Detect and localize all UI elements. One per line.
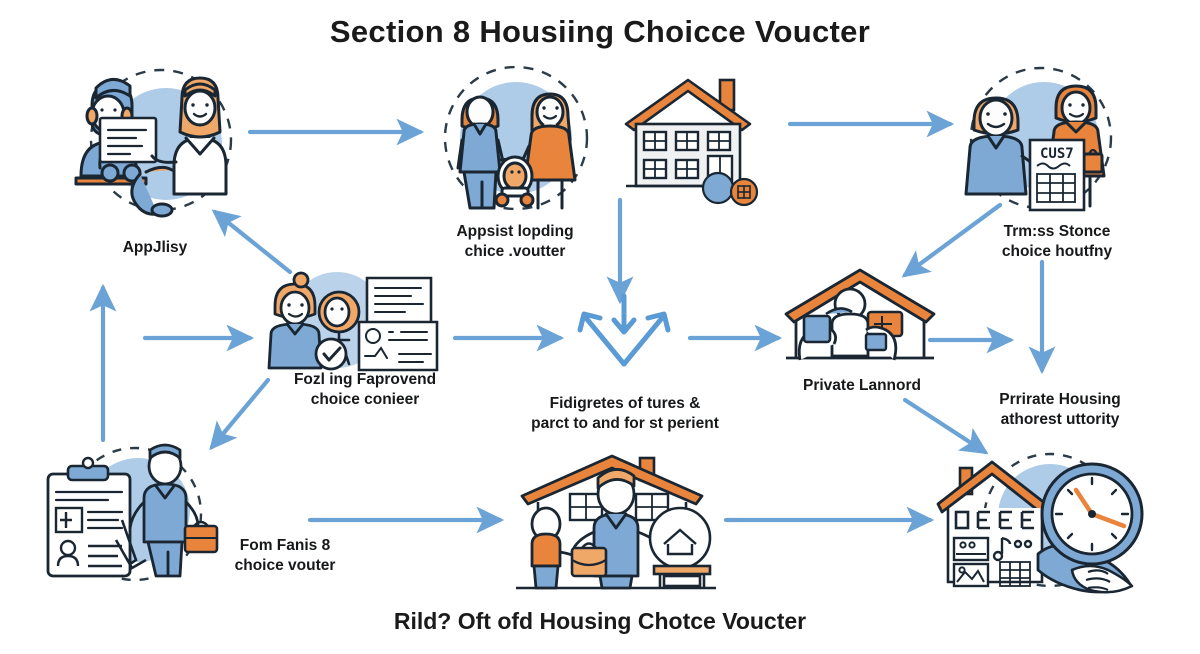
family-moving-in-icon [508,452,723,600]
infographic-canvas: Section 8 Housiing Choicce Voucter [0,0,1200,654]
agent-with-form-icon: CUS7 [944,62,1139,222]
node-label-form-fanis: Fom Fanis 8 choice vouter [190,536,380,576]
page-title: Section 8 Housiing Choicce Voucter [0,14,1200,50]
node-label-housing-authority: Prrirate Housing athorest uttority [945,390,1175,430]
house-building-icon [618,68,798,204]
svg-text:CUS7: CUS7 [1040,146,1074,162]
house-clock-hand-icon [938,450,1153,592]
node-label-finding-approved: Fozl ing Faprovend choice conieer [245,370,485,410]
family-with-stroller-icon [428,62,603,222]
node-label-payments: Fidigretes of tures & parct to and for s… [495,394,755,434]
node-label-private-landlord: Private Lannord [762,376,962,396]
page-caption: Rild? Oft ofd Housing Chotce Voucter [0,608,1200,635]
node-label-assist-applying: Appsist lopding chice .voutter [410,222,620,262]
person-approved-document-icon [255,262,455,382]
node-label-apply: AppJlisy [30,238,280,258]
two-people-document-icon [36,58,286,223]
house-key-handover-icon [770,262,960,378]
branching-arrows-icon [556,292,692,378]
node-label-tenant-screening: Trm:ss Stonce choice houtfny [942,222,1172,262]
